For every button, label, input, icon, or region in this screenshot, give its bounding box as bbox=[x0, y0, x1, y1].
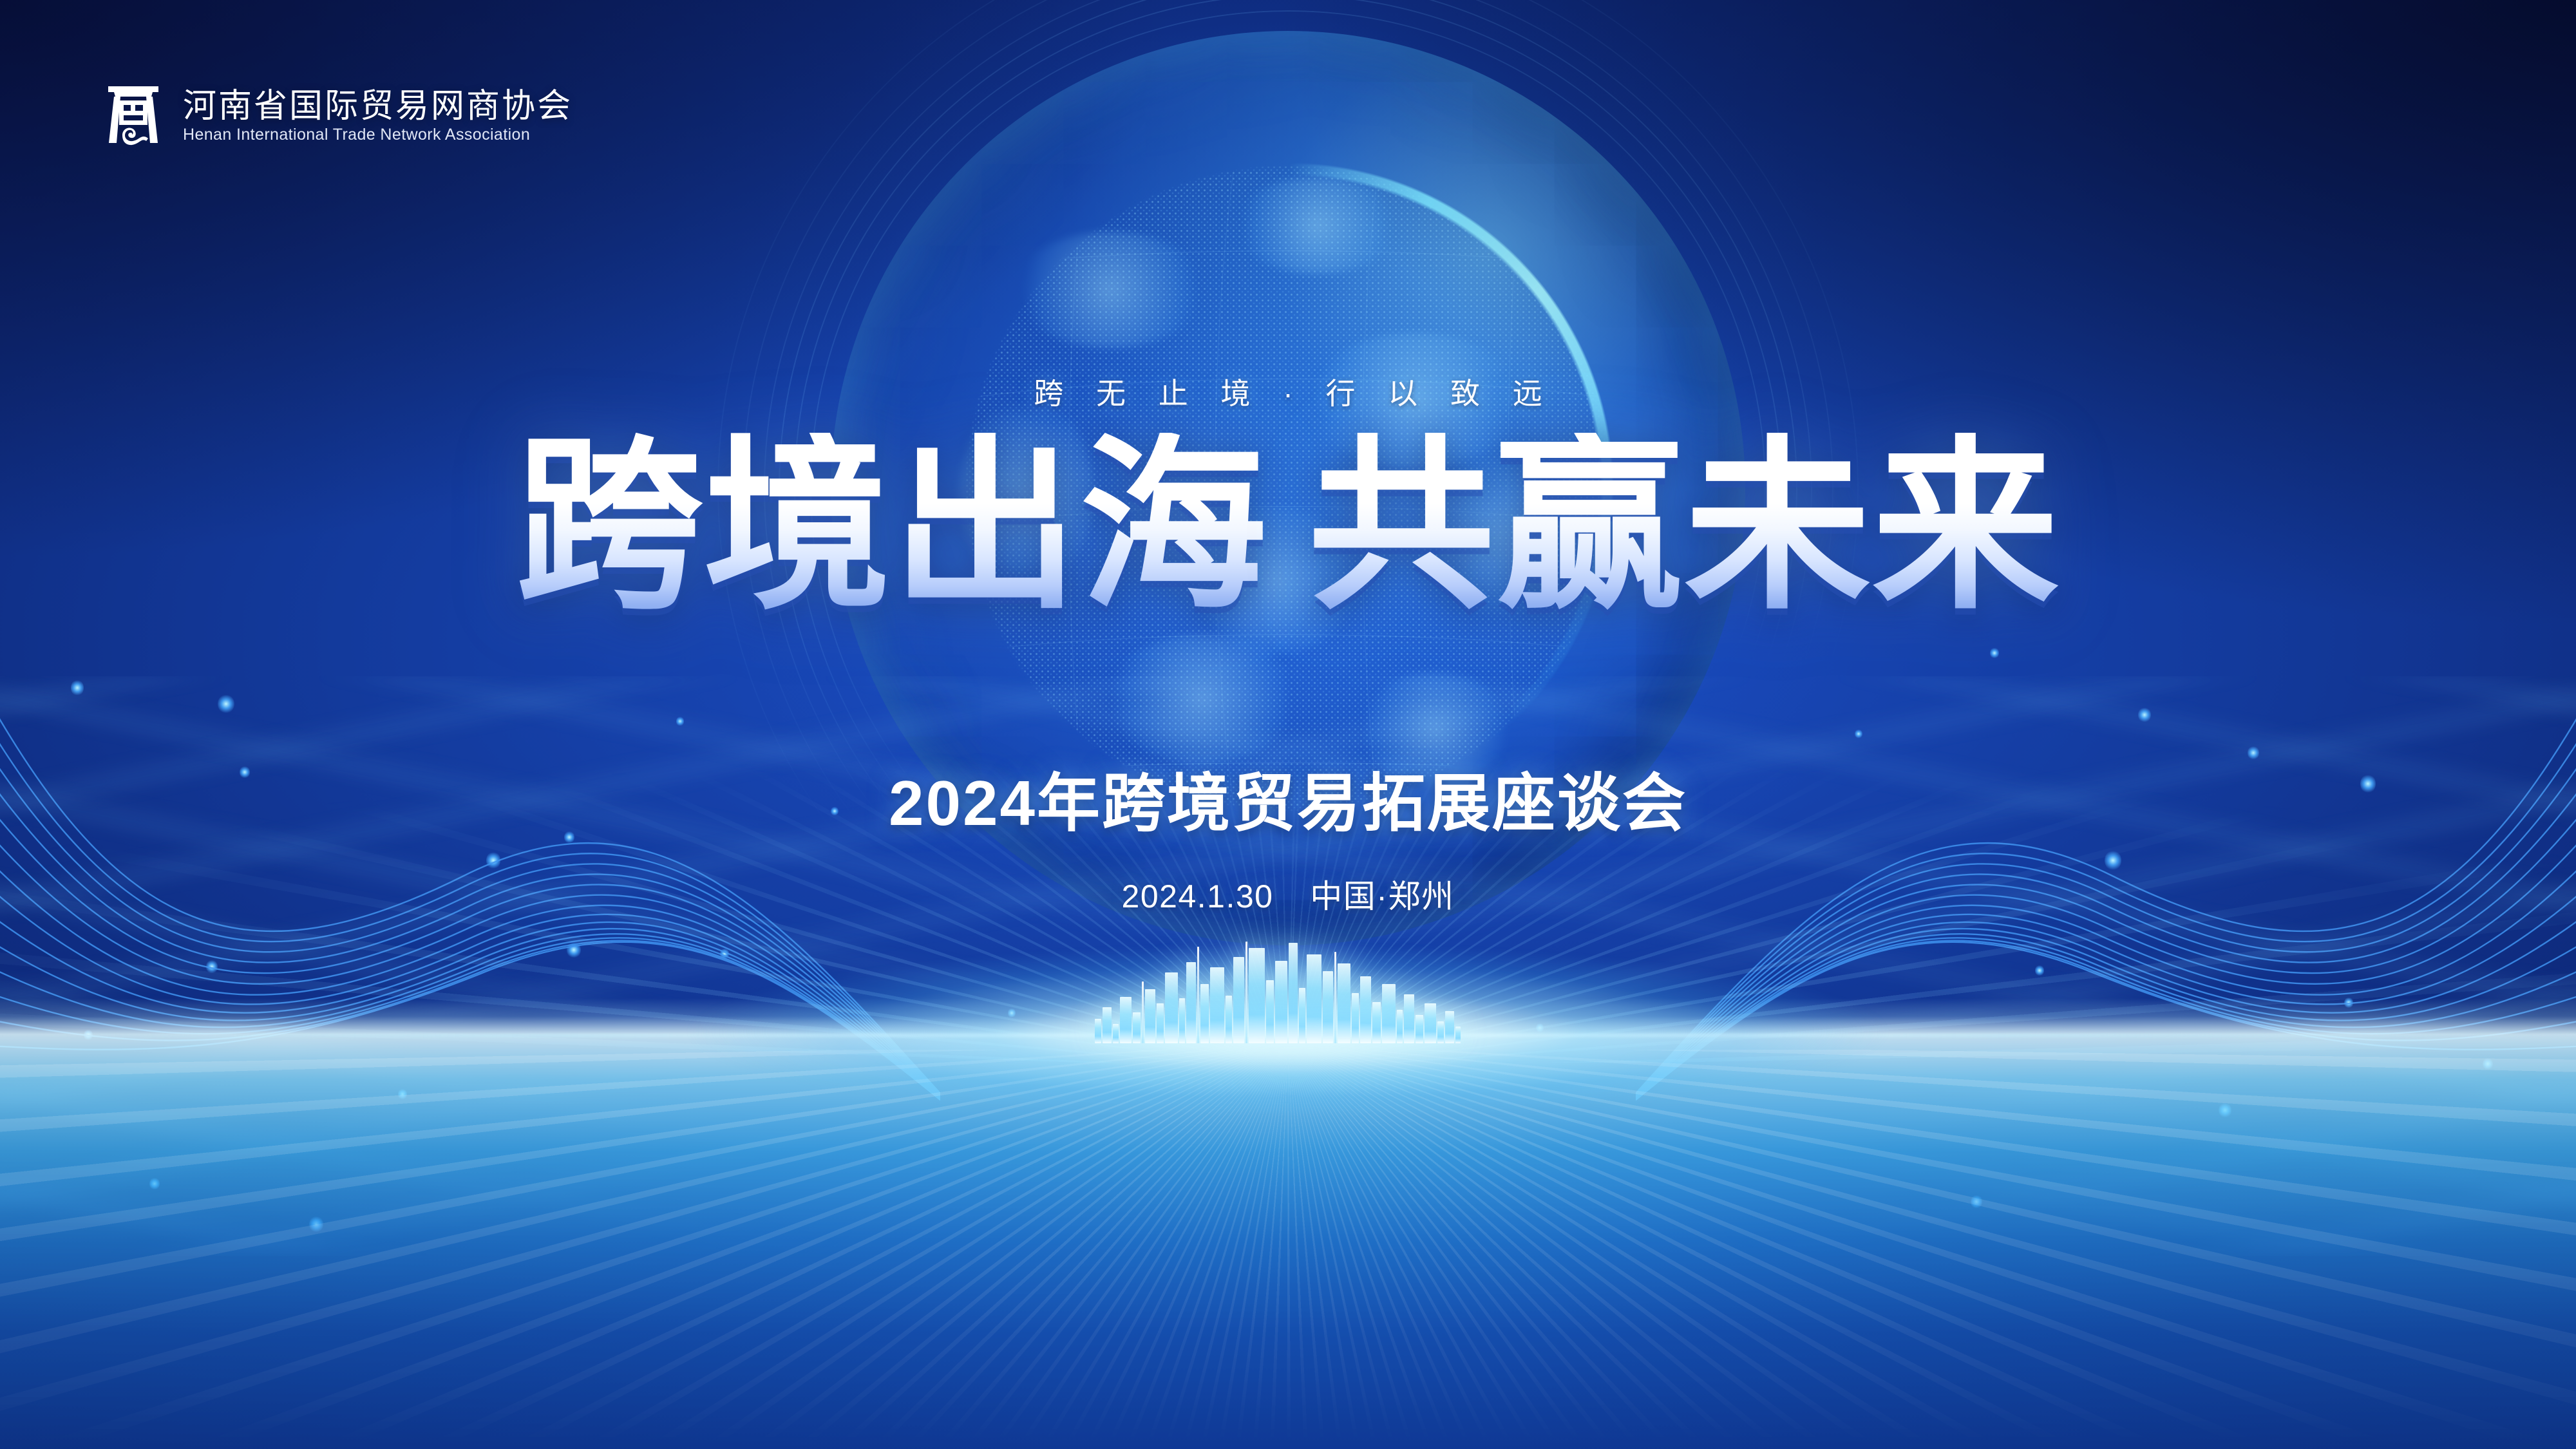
association-name-en: Henan International Trade Network Associ… bbox=[183, 127, 573, 143]
logo-text-block: 河南省国际贸易网商协会 Henan International Trade Ne… bbox=[183, 90, 573, 143]
event-date: 2024.1.30 bbox=[1122, 878, 1274, 914]
headline-part-1: 跨境出海 bbox=[516, 433, 1268, 620]
henan-trade-seal-icon bbox=[103, 82, 164, 149]
poster-subtitle: 2024年跨境贸易拓展座谈会 bbox=[889, 752, 1687, 844]
headline-part-2: 共赢未来 bbox=[1308, 433, 2060, 620]
poster-date-location: 2024.1.30 中国·郑州 bbox=[1122, 871, 1455, 917]
city-skyline-icon bbox=[1095, 934, 1481, 1043]
poster-canvas: 河南省国际贸易网商协会 Henan International Trade Ne… bbox=[0, 0, 2576, 1449]
association-logo[interactable]: 河南省国际贸易网商协会 Henan International Trade Ne… bbox=[103, 82, 573, 149]
poster-tagline: 跨 无 止 境 · 行 以 致 远 bbox=[1021, 370, 1555, 413]
event-location: 中国·郑州 bbox=[1310, 878, 1454, 914]
poster-headline: 跨境出海 共赢未来 bbox=[516, 433, 2060, 620]
association-name-cn: 河南省国际贸易网商协会 bbox=[183, 90, 573, 123]
